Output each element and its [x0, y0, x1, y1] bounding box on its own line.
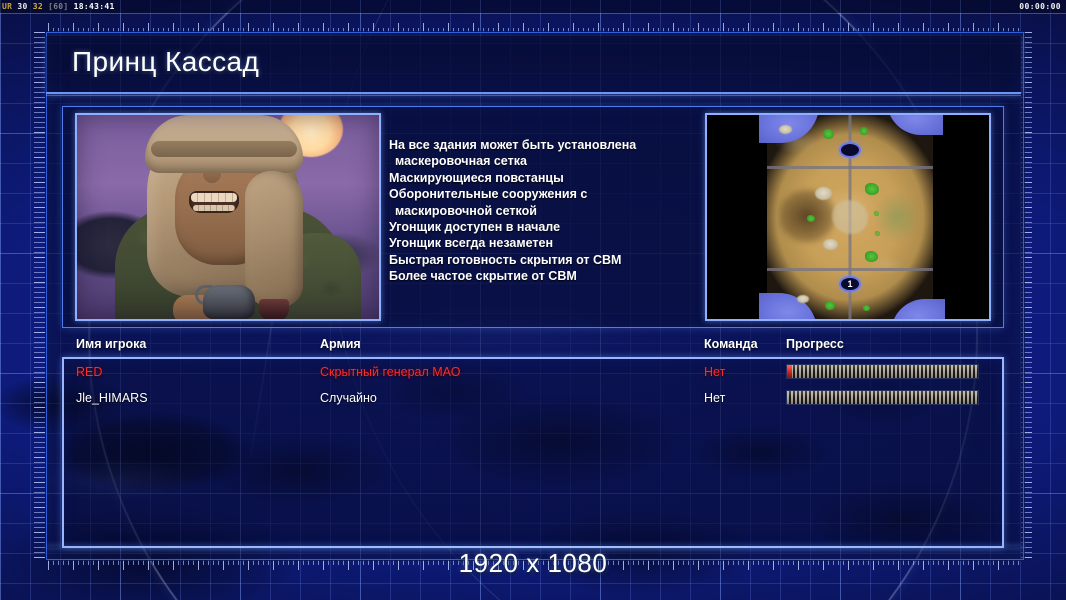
- map-vegetation: [860, 127, 868, 135]
- map-start-position[interactable]: 1: [839, 276, 861, 292]
- map-preview[interactable]: 1: [705, 113, 991, 321]
- description-line: маскеровочная сетка: [389, 153, 689, 169]
- screen-root: UR 30 32 [60] 18:43:41 00:00:00 Принц Ка…: [0, 0, 1066, 600]
- map-rock: [823, 239, 838, 250]
- map-center-plateau: [832, 200, 868, 234]
- description-line: маскировочной сеткой: [389, 203, 689, 219]
- player-name: Jle_HIMARS: [76, 385, 148, 411]
- general-description: На все здания может быть установлена мас…: [389, 137, 689, 285]
- debug-status-text: UR 30 32 [60] 18:43:41: [2, 0, 115, 13]
- column-header-progress: Прогресс: [786, 337, 844, 351]
- player-team[interactable]: Нет: [704, 385, 725, 411]
- map-terrain: 1: [767, 115, 933, 319]
- progress-sheen: [787, 365, 978, 378]
- map-vegetation-area: [869, 187, 925, 247]
- description-line: Угонщик доступен в начале: [389, 219, 689, 235]
- resolution-watermark: 1920 x 1080: [0, 548, 1066, 579]
- player-progress-bar: [786, 390, 979, 405]
- general-portrait: [75, 113, 381, 321]
- map-start-position-label: 1: [847, 280, 852, 289]
- player-list-panel: RED Скрытный генерал МАО Нет Jle_HIMARS …: [62, 357, 1004, 548]
- description-line: Более частое скрытие от СВМ: [389, 268, 689, 284]
- map-vegetation: [825, 301, 835, 310]
- title-bar: Принц Кассад: [46, 36, 1021, 94]
- general-info-panel: На все здания может быть установлена мас…: [62, 106, 1004, 328]
- map-rock: [815, 187, 832, 200]
- table-row[interactable]: Jle_HIMARS Случайно Нет: [64, 385, 1002, 411]
- map-rock: [797, 295, 809, 303]
- description-line: На все здания может быть установлена: [389, 137, 689, 153]
- page-title: Принц Кассад: [72, 46, 259, 78]
- portrait-illustration: [77, 115, 379, 319]
- player-team[interactable]: Нет: [704, 359, 725, 385]
- map-start-position[interactable]: [839, 142, 861, 158]
- player-army[interactable]: Скрытный генерал МАО: [320, 359, 460, 385]
- map-vegetation: [875, 231, 880, 236]
- portrait-vignette: [77, 115, 379, 319]
- map-vegetation: [807, 215, 815, 222]
- map-vegetation: [823, 129, 834, 139]
- description-line: Угонщик всегда незаметен: [389, 235, 689, 251]
- description-line: Оборонительные сооружения с: [389, 186, 689, 202]
- debug-status-bracket: [60]: [48, 2, 68, 11]
- column-header-team: Команда: [704, 337, 758, 351]
- progress-sheen: [787, 391, 978, 404]
- player-progress-bar: [786, 364, 979, 379]
- title-underline: [46, 95, 1021, 96]
- map-vegetation: [865, 251, 878, 262]
- map-rock: [779, 125, 792, 134]
- map-vegetation: [863, 305, 870, 311]
- map-vegetation: [865, 183, 879, 195]
- description-line: Быстрая готовность скрытия от СВМ: [389, 252, 689, 268]
- top-status-bar: UR 30 32 [60] 18:43:41 00:00:00: [0, 0, 1066, 13]
- player-list-header: Имя игрока Армия Команда Прогресс: [62, 337, 1004, 359]
- player-name: RED: [76, 359, 102, 385]
- debug-status-val1: 30: [17, 2, 27, 11]
- ruler-left-decoration: [34, 32, 45, 560]
- match-timer: 00:00:00: [1019, 0, 1061, 13]
- column-header-player-name: Имя игрока: [76, 337, 146, 351]
- debug-status-val2: 32: [33, 2, 43, 11]
- player-army[interactable]: Случайно: [320, 385, 377, 411]
- debug-status-tag: UR: [2, 2, 12, 11]
- map-vegetation: [874, 211, 879, 216]
- table-row[interactable]: RED Скрытный генерал МАО Нет: [64, 359, 1002, 385]
- description-line: Маскирующиеся повстанцы: [389, 170, 689, 186]
- debug-status-clock: 18:43:41: [74, 2, 115, 11]
- column-header-army: Армия: [320, 337, 361, 351]
